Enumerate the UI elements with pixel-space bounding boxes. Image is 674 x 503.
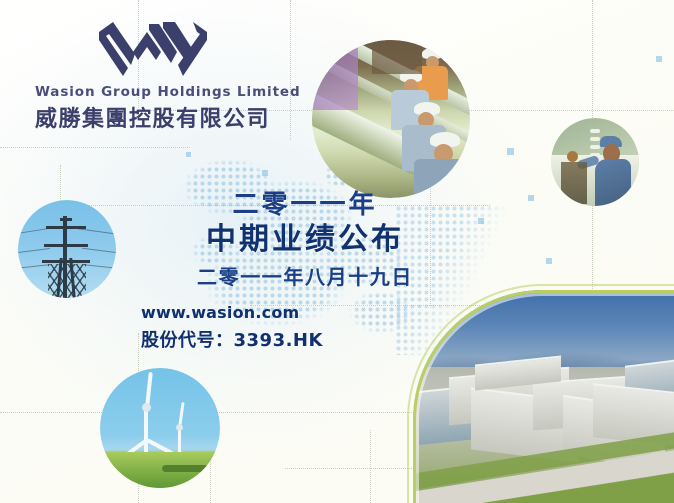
photo-image — [312, 40, 470, 198]
stock-code: 股份代号：3393.HK — [141, 326, 323, 352]
company-info-block: www.wasion.com 股份代号：3393.HK — [141, 303, 323, 352]
photo-image — [100, 368, 220, 488]
background-dot — [656, 56, 662, 62]
headline-block: 二零一一年 中期业绩公布 二零一一年八月十九日 — [150, 190, 460, 290]
background-dot — [262, 170, 268, 176]
logo-chinese-name: 威勝集團控股有限公司 — [35, 101, 270, 133]
photo-power-transmission-tower — [18, 200, 116, 298]
grid-line-vertical — [290, 0, 291, 140]
photo-image — [551, 118, 639, 206]
background-dot — [528, 195, 534, 201]
photo-factory-assembly-line — [312, 40, 470, 198]
background-dot — [186, 152, 191, 157]
headline-year: 二零一一年 — [150, 190, 460, 221]
logo-english-name: Wasion Group Holdings Limited — [35, 84, 270, 100]
grid-line-vertical — [592, 0, 593, 120]
photo-wind-turbines — [100, 368, 220, 488]
website-url[interactable]: www.wasion.com — [141, 303, 323, 322]
photo-industrial-campus — [413, 290, 674, 503]
background-dot — [546, 258, 552, 264]
company-logo: Wasion Group Holdings Limited 威勝集團控股有限公司 — [35, 22, 270, 133]
presentation-slide: Wasion Group Holdings Limited 威勝集團控股有限公司 — [0, 0, 674, 503]
background-dot — [478, 218, 484, 224]
headline-date: 二零一一年八月十九日 — [150, 264, 460, 290]
wasion-w-monogram-icon — [97, 22, 209, 78]
page-title: 中期业绩公布 — [150, 222, 460, 258]
grid-line-vertical — [592, 200, 593, 295]
background-dot — [507, 148, 514, 155]
photo-image — [18, 200, 116, 298]
photo-technician-worker — [551, 118, 639, 206]
grid-line-vertical — [370, 430, 371, 503]
